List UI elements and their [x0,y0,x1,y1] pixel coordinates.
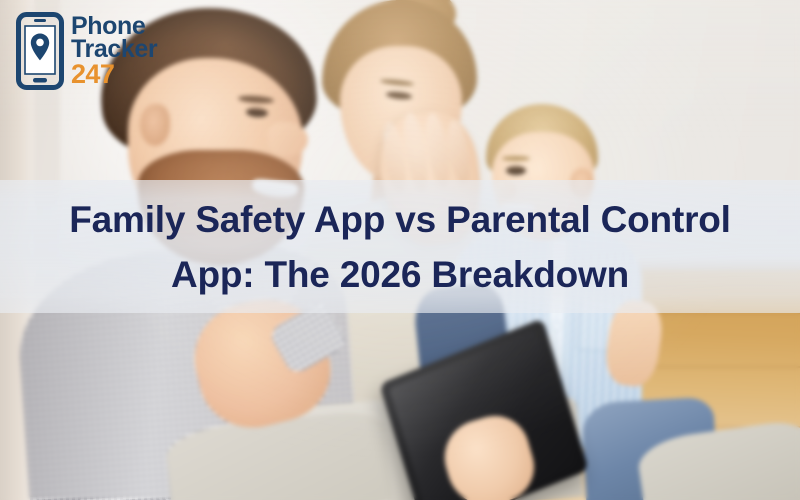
hero-banner: Family Safety App vs Parental Control Ap… [0,0,800,500]
brand-word-247: 247 [71,62,157,87]
boy-eyebrow [502,156,530,161]
page-title-line-2: App: The 2026 Breakdown [171,247,629,302]
man-ear [140,104,170,146]
phone-location-pin-icon [16,12,64,90]
brand-logo[interactable]: Phone Tracker 247 [16,12,157,90]
man-nose [268,122,308,156]
boy-eye [506,166,526,175]
brand-word-tracker: Tracker [71,38,157,61]
brand-logo-text: Phone Tracker 247 [71,15,157,87]
page-title-line-1: Family Safety App vs Parental Control [69,192,731,247]
page-title: Family Safety App vs Parental Control Ap… [0,180,800,313]
boy-shirt-button [552,322,560,330]
